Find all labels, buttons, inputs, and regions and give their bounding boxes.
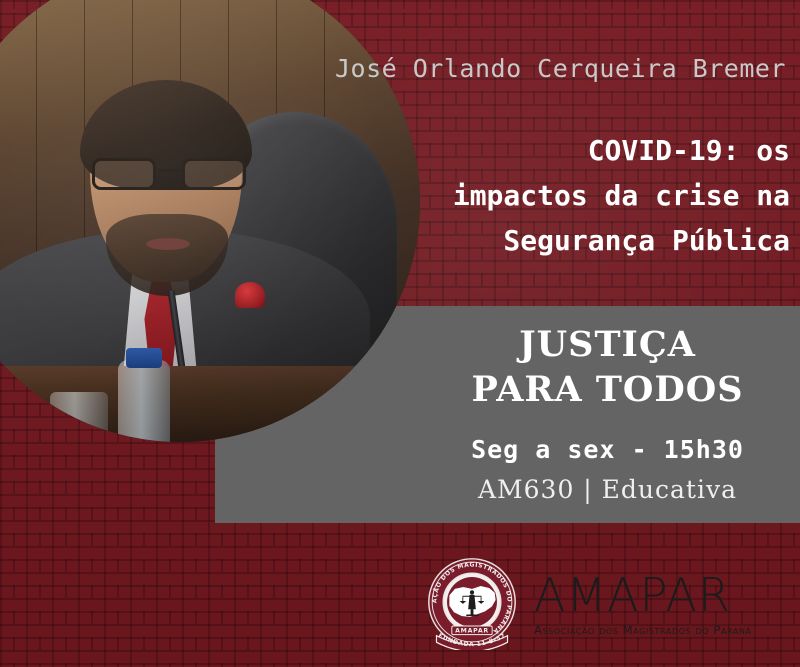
photo-water-bottle [118,360,170,442]
talk-title: COVID-19: os impactos da crise na Segura… [370,128,790,263]
program-name: JUSTIÇA PARA TODOS [415,322,800,412]
photo-lens-right [182,158,246,190]
photo-drinking-glass [50,392,108,442]
talk-title-line-2: impactos da crise na [370,173,790,218]
photo-lens-left [92,158,156,190]
talk-title-line-3: Segurança Pública [370,218,790,263]
speaker-name: José Orlando Cerqueira Bremer [0,54,786,83]
photo-bottle-cap [126,348,162,368]
photo-glasses-bridge [158,169,182,172]
broadcast-schedule: Seg a sex - 15h30 [415,435,800,464]
amapar-wordmark: AMAPAR [534,572,731,618]
amapar-wordmark-block: AMAPAR Associação dos Magistrados do Par… [534,568,752,637]
photo-microphone-head [235,282,265,308]
seal-banner: AMAPAR [452,626,492,635]
photo-eyeglasses [90,158,248,192]
amapar-logo: ASSOCIAÇÃO DOS MAGISTRADOS DO PARANÁ AMA… [424,549,772,655]
amapar-tagline: Associação dos Magistrados do Paraná [534,623,752,637]
poster-canvas: José Orlando Cerqueira Bremer COVID-19: … [0,0,800,667]
program-name-line-2: PARA TODOS [415,367,800,412]
photo-mouth [146,238,190,250]
radio-station: AM630 | Educativa [415,475,800,504]
program-name-line-1: JUSTIÇA [415,322,800,367]
talk-title-line-1: COVID-19: os [370,128,790,173]
amapar-seal-icon: ASSOCIAÇÃO DOS MAGISTRADOS DO PARANÁ AMA… [424,554,520,650]
seal-banner-text: AMAPAR [455,628,489,635]
